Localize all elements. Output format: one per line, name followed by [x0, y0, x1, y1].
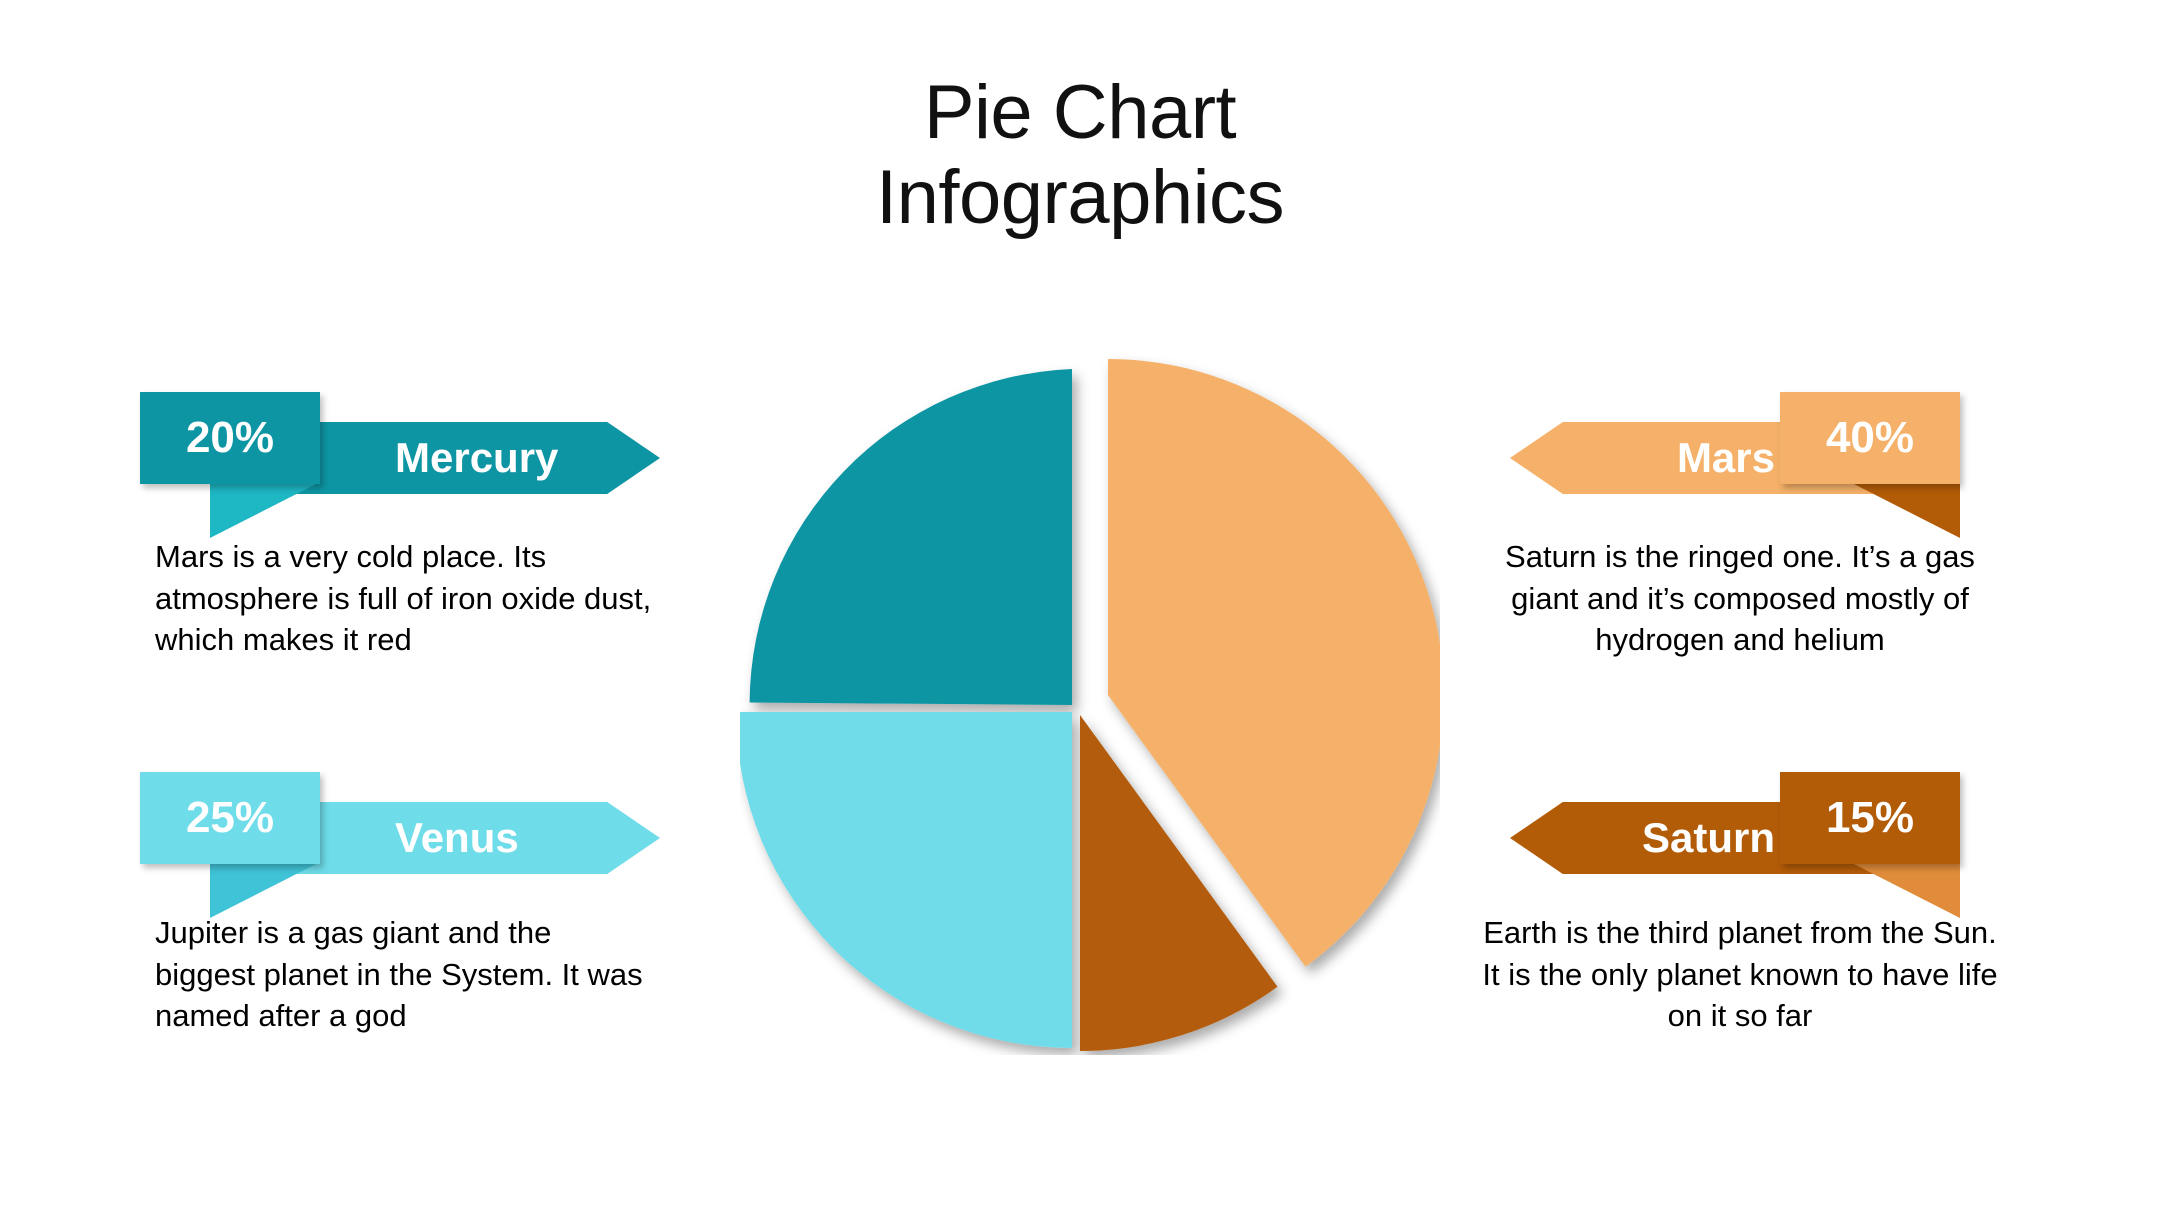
percent-value-mercury: 20%	[186, 416, 274, 460]
pie-slice-venus	[740, 712, 1072, 1048]
description-saturn: Earth is the third planet from the Sun. …	[1480, 912, 2000, 1037]
ribbon-label-saturn: Saturn	[1642, 814, 1775, 862]
percent-value-venus: 25%	[186, 796, 274, 840]
label-block-saturn: Saturn 15%	[1470, 758, 2030, 878]
description-venus: Jupiter is a gas giant and the biggest p…	[155, 912, 655, 1037]
label-block-mercury: Mercury 20%	[140, 378, 700, 498]
badge-venus[interactable]: Venus 25%	[140, 758, 700, 878]
percent-value-mars: 40%	[1826, 416, 1914, 460]
pie-chart	[740, 355, 1440, 1055]
ribbon-label-mars: Mars	[1677, 434, 1775, 482]
label-block-mars: Mars 40%	[1470, 378, 2030, 498]
ribbon-label-venus: Venus	[395, 814, 519, 862]
page-title-line-1: Pie Chart	[0, 70, 2160, 155]
description-mercury: Mars is a very cold place. Its atmospher…	[155, 536, 655, 661]
badge-mercury[interactable]: Mercury 20%	[140, 378, 700, 498]
badge-mars[interactable]: Mars 40%	[1470, 378, 2030, 498]
pie-slice-mercury	[750, 369, 1072, 705]
percent-box-saturn: 15%	[1780, 772, 1960, 864]
label-block-venus: Venus 25%	[140, 758, 700, 878]
page-title-line-2: Infographics	[0, 155, 2160, 240]
fold-corner-mars	[1850, 482, 1960, 538]
fold-corner-mercury	[210, 482, 320, 538]
percent-box-mercury: 20%	[140, 392, 320, 484]
description-mars: Saturn is the ringed one. It’s a gas gia…	[1480, 536, 2000, 661]
percent-box-mars: 40%	[1780, 392, 1960, 484]
badge-saturn[interactable]: Saturn 15%	[1470, 758, 2030, 878]
page-title: Pie Chart Infographics	[0, 70, 2160, 240]
percent-value-saturn: 15%	[1826, 796, 1914, 840]
ribbon-label-mercury: Mercury	[395, 434, 558, 482]
percent-box-venus: 25%	[140, 772, 320, 864]
